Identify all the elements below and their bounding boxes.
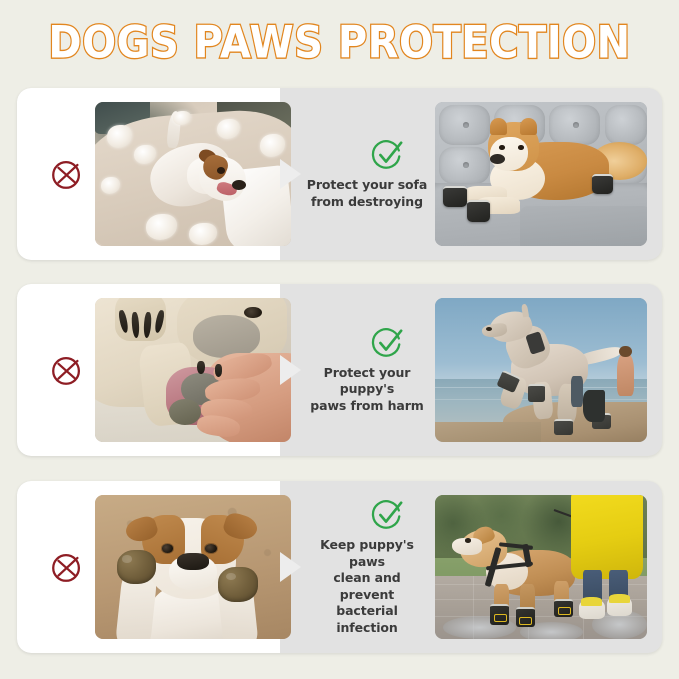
panel-2-before-photo bbox=[95, 298, 291, 442]
cross-circle-icon bbox=[48, 351, 86, 389]
panel-3-before-photo bbox=[95, 495, 291, 639]
panel-3-caption-block: Keep puppy's paws clean and prevent bact… bbox=[300, 481, 428, 653]
panel-1-caption-text: Protect your sofa from destroying bbox=[307, 177, 427, 210]
benefit-panel-2: Protect your puppy's paws from harm bbox=[17, 284, 662, 456]
panel-2-caption-text: Protect your puppy's paws from harm bbox=[306, 365, 428, 415]
cross-circle-icon bbox=[48, 155, 86, 193]
benefit-panel-3: Keep puppy's paws clean and prevent bact… bbox=[17, 481, 662, 653]
infographic-page: DOGS PAWS PROTECTION bbox=[0, 0, 679, 679]
cross-circle-icon bbox=[48, 548, 86, 586]
panel-1-after-photo bbox=[435, 102, 647, 246]
check-circle-icon bbox=[370, 138, 404, 172]
panel-1-before-photo bbox=[95, 102, 291, 246]
arrow-right-icon bbox=[280, 550, 302, 584]
arrow-right-icon bbox=[280, 353, 302, 387]
panel-1-caption-block: Protect your sofa from destroying bbox=[300, 88, 428, 260]
panel-3-after-photo bbox=[435, 495, 647, 639]
arrow-right-icon bbox=[280, 157, 302, 191]
panel-3-caption-text: Keep puppy's paws clean and prevent bact… bbox=[306, 537, 428, 636]
check-circle-icon bbox=[370, 326, 404, 360]
page-title-text: DOGS PAWS PROTECTION bbox=[48, 17, 630, 69]
panel-2-after-photo bbox=[435, 298, 647, 442]
benefit-panel-1: Protect your sofa from destroying bbox=[17, 88, 662, 260]
panel-2-caption-block: Protect your puppy's paws from harm bbox=[300, 284, 428, 456]
page-title: DOGS PAWS PROTECTION bbox=[0, 16, 679, 70]
check-circle-icon bbox=[370, 498, 404, 532]
